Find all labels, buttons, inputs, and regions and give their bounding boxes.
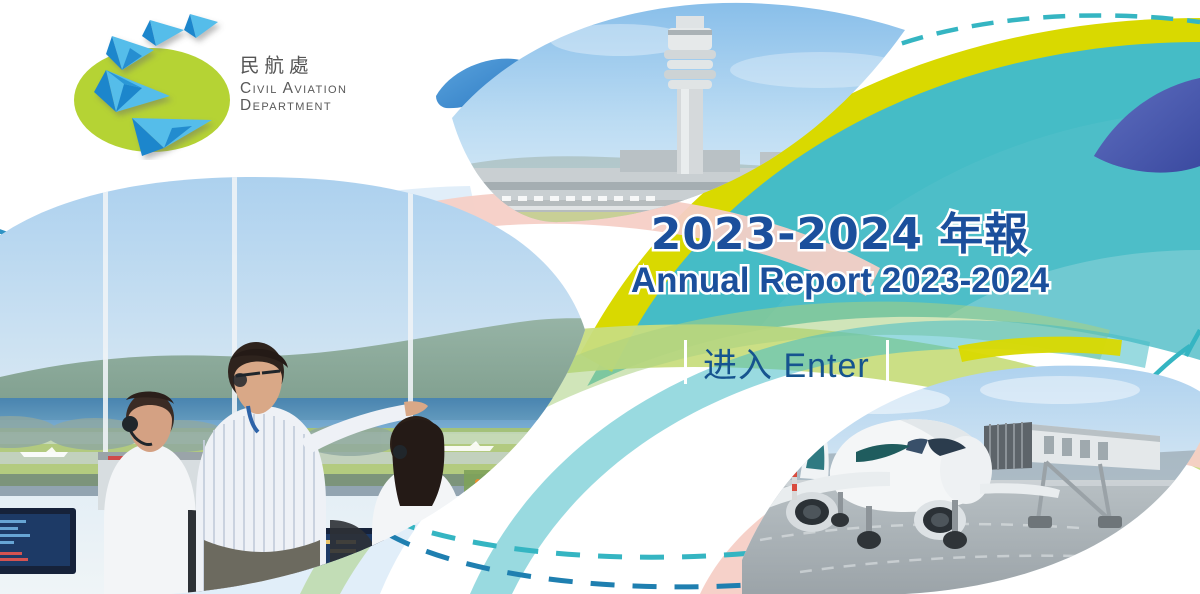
report-title-chinese: 2023-2024 年報	[600, 212, 1080, 258]
logo-chinese-name: 民航處	[240, 56, 420, 76]
enter-button[interactable]: 进入 Enter	[684, 333, 889, 391]
enter-label-en-wrap: Enter	[773, 347, 870, 385]
enter-button-label: 进入 Enter	[703, 338, 870, 387]
logo-wordmark: 民航處 Civil Aviation Department	[240, 56, 420, 114]
enter-left-rule	[684, 340, 687, 384]
cad-logo-mark	[72, 8, 247, 160]
enter-right-rule	[886, 340, 889, 384]
report-title-block: 2023-2024 年報 Annual Report 2023-2024	[600, 212, 1080, 301]
enter-label-cn: 进入	[703, 346, 773, 386]
civil-aviation-department-logo: 民航處 Civil Aviation Department	[72, 8, 402, 158]
enter-label-en: Enter	[783, 347, 869, 385]
logo-english-line2: Department	[240, 98, 420, 114]
annual-report-splash-page: 民航處 Civil Aviation Department 2023-2024 …	[0, 0, 1200, 594]
logo-english-line1: Civil Aviation	[240, 81, 420, 97]
report-title-english: Annual Report 2023-2024	[600, 262, 1080, 301]
